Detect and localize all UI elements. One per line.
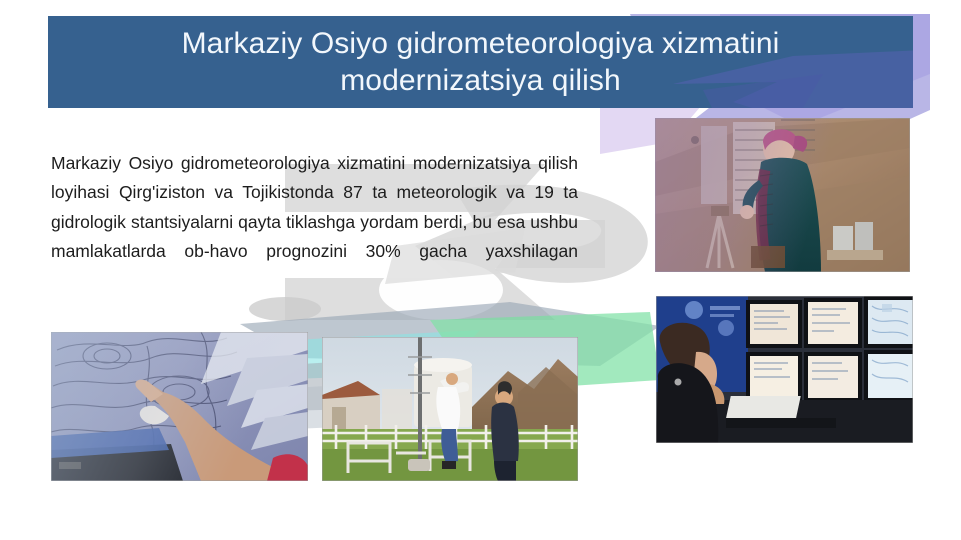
presentation-slide: Markaziy Osiyo gidrometeorologiya xizmat…	[0, 0, 961, 540]
field-technicians-image	[322, 337, 578, 481]
grey-ellipse-watermark	[249, 297, 321, 321]
photo-field-technicians	[322, 337, 578, 481]
page-title: Markaziy Osiyo gidrometeorologiya xizmat…	[48, 25, 913, 99]
body-paragraph: Markaziy Osiyo gidrometeorologiya xizmat…	[51, 149, 578, 297]
forecast-center-image	[656, 296, 913, 443]
photo-weather-station-woman	[655, 118, 910, 272]
slide-title-bar: Markaziy Osiyo gidrometeorologiya xizmat…	[48, 16, 913, 108]
photo-weather-map-hand	[51, 332, 308, 481]
cool-tint-overlay	[51, 332, 308, 481]
violet-tint-overlay	[655, 118, 910, 272]
photo-forecast-center	[656, 296, 913, 443]
